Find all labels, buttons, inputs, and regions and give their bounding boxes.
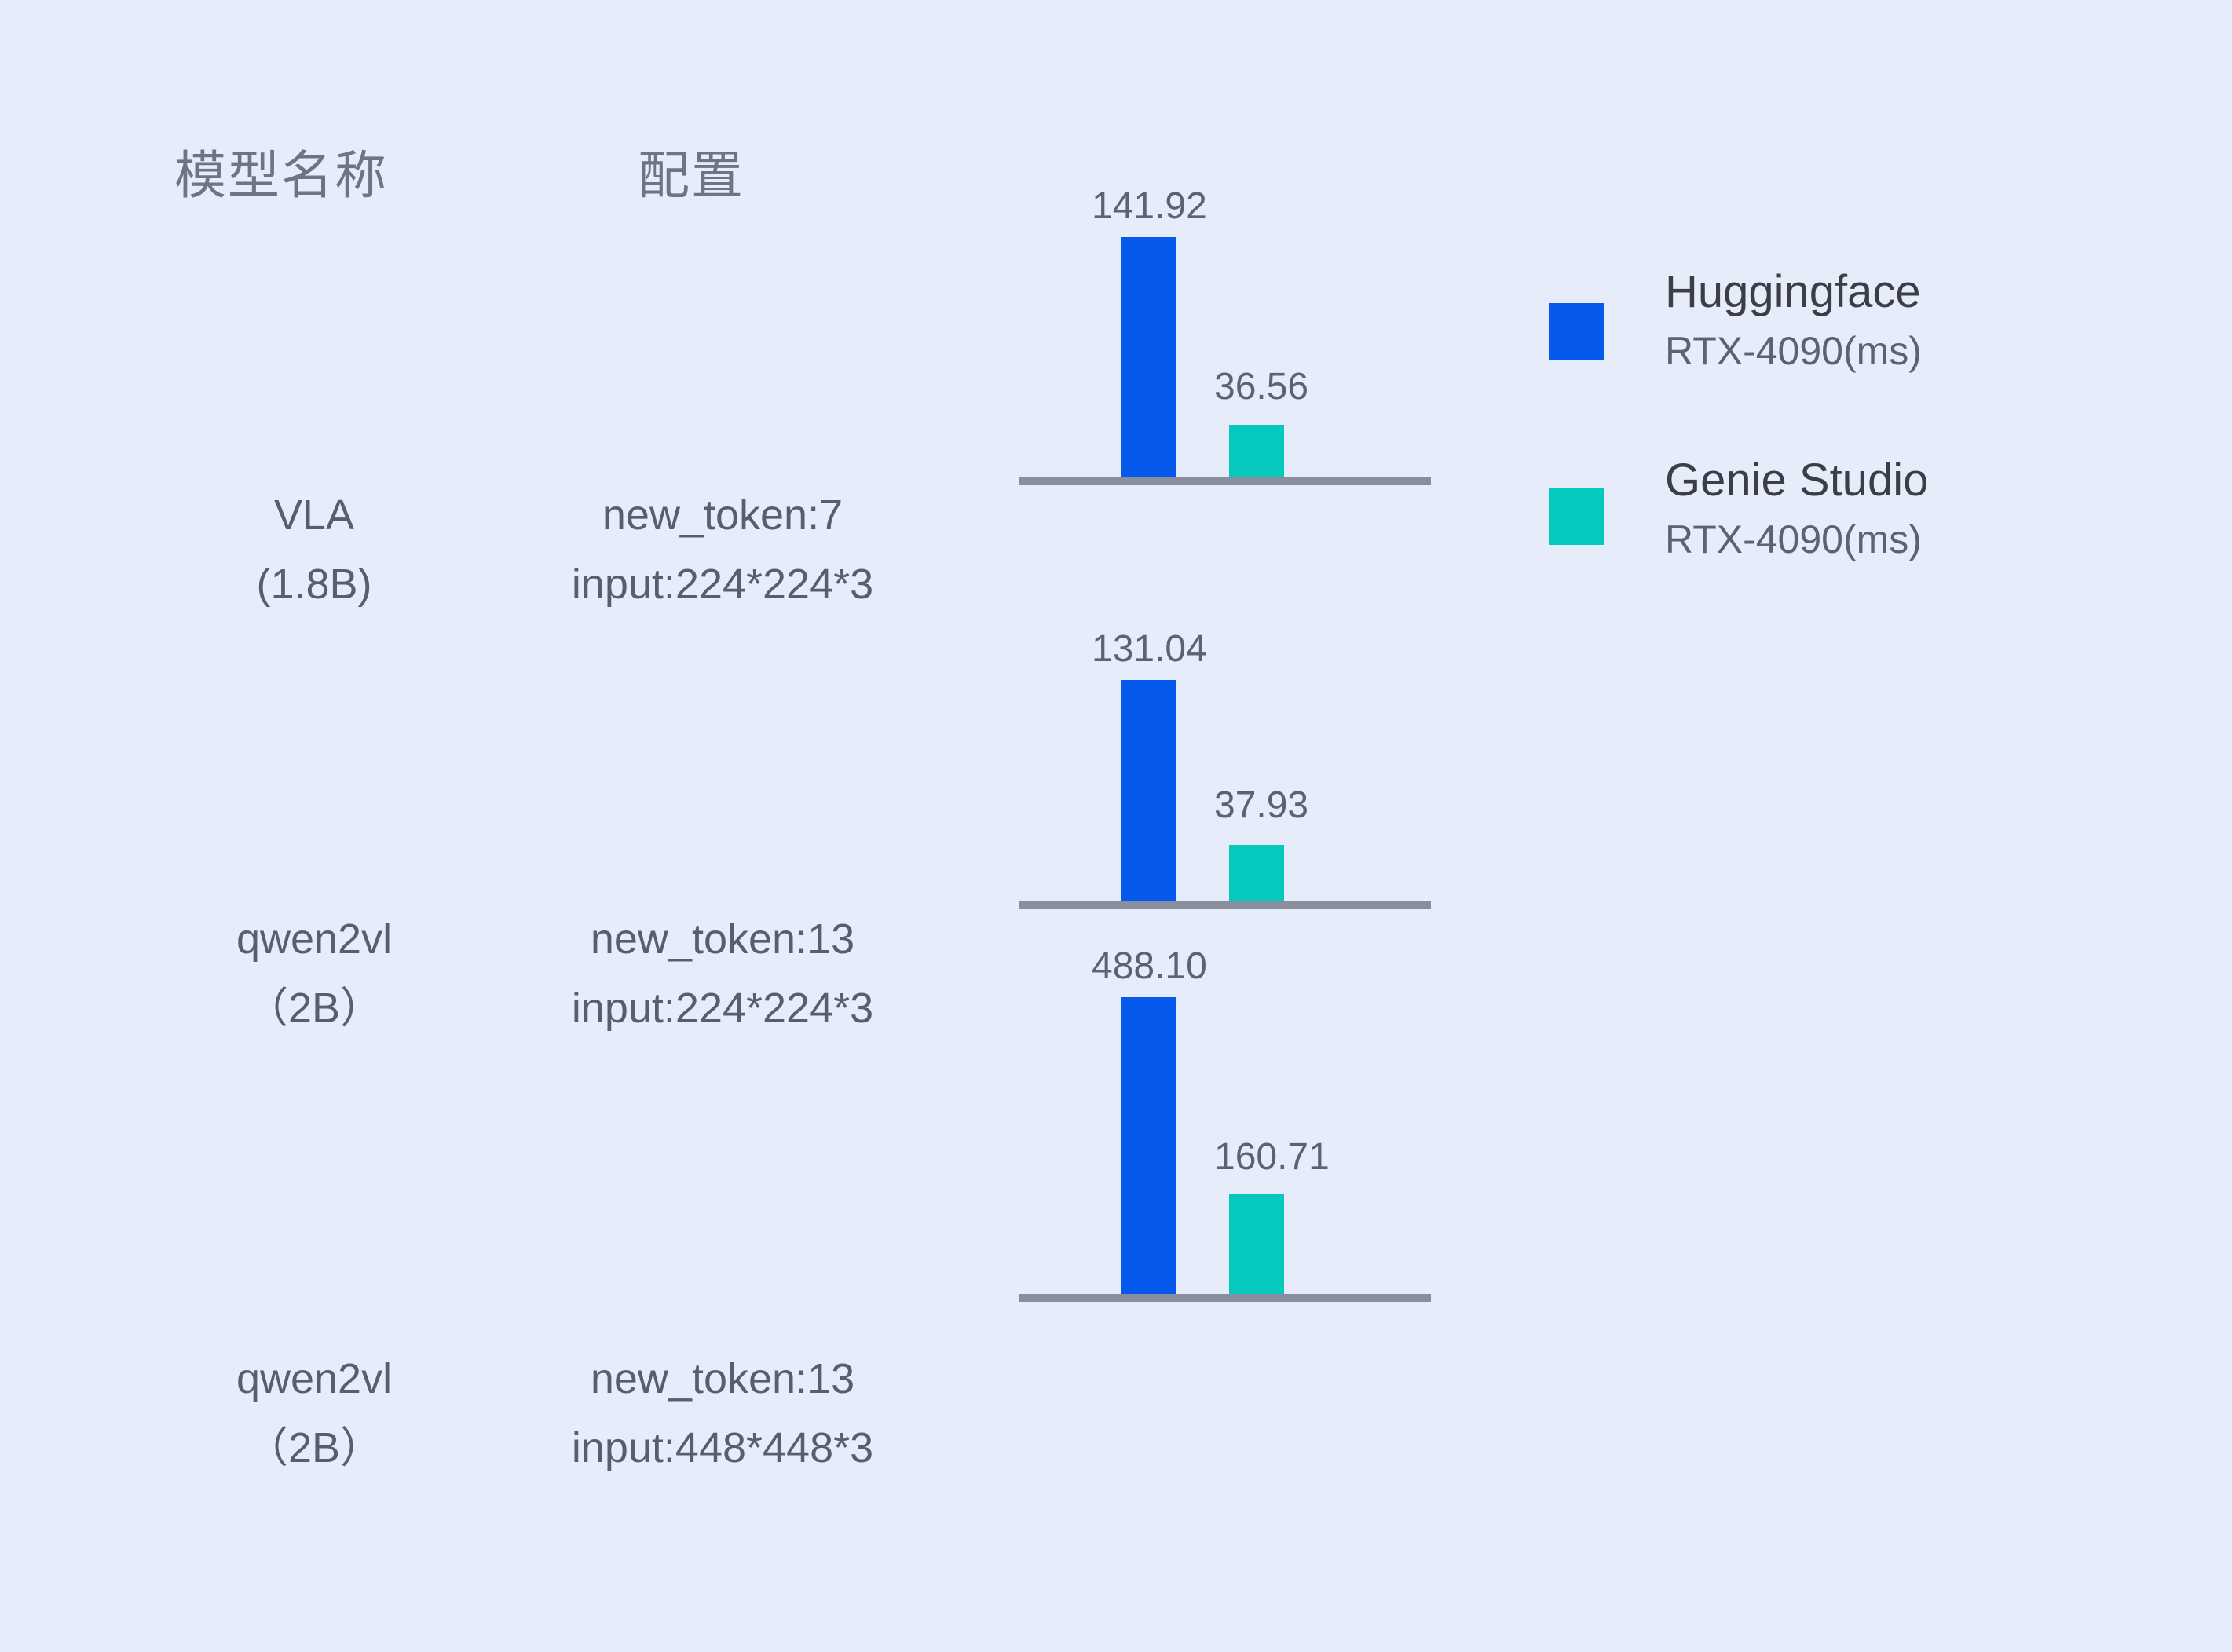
bar-value-label-genie: 37.93	[1214, 787, 1308, 824]
config-line-2: input:224*224*3	[487, 974, 958, 1043]
config-line-1: new_token:7	[487, 481, 958, 550]
config-cell: new_token:13 input:448*448*3	[487, 1344, 958, 1482]
legend-subtitle: RTX-4090(ms)	[1665, 510, 1928, 568]
bar-value-label-huggingface: 141.92	[1092, 188, 1207, 225]
model-name-line-2: （2B）	[149, 1413, 479, 1482]
config-cell: new_token:13 input:224*224*3	[487, 905, 958, 1043]
bar-value-label-genie: 36.56	[1214, 368, 1308, 406]
legend-title: Genie Studio	[1665, 451, 1928, 510]
model-name-line-2: (1.8B)	[149, 550, 479, 619]
row-baseline	[1019, 477, 1431, 485]
legend-text-huggingface: Huggingface RTX-4090(ms)	[1665, 262, 1922, 380]
bar-value-label-huggingface: 488.10	[1092, 948, 1207, 985]
bar-huggingface	[1121, 997, 1176, 1302]
bar-huggingface	[1121, 237, 1176, 478]
config-line-1: new_token:13	[487, 905, 958, 974]
model-name-cell: qwen2vl （2B）	[149, 1344, 479, 1482]
model-name-line-1: VLA	[149, 481, 479, 550]
bar-huggingface	[1121, 680, 1176, 902]
model-name-line-1: qwen2vl	[149, 905, 479, 974]
bar-value-label-genie: 160.71	[1214, 1138, 1330, 1176]
column-header-config: 配置	[638, 133, 745, 209]
config-line-2: input:224*224*3	[487, 550, 958, 619]
bar-group: 131.04 37.93	[1019, 572, 1431, 909]
config-line-2: input:448*448*3	[487, 1413, 958, 1482]
chart-legend: Huggingface RTX-4090(ms) Genie Studio RT…	[1546, 236, 2095, 612]
bar-value-label-huggingface: 131.04	[1092, 630, 1207, 668]
model-name-cell: qwen2vl （2B）	[149, 905, 479, 1043]
legend-item-genie-studio[interactable]: Genie Studio RTX-4090(ms)	[1546, 424, 2095, 612]
model-name-line-1: qwen2vl	[149, 1344, 479, 1413]
row-baseline	[1019, 901, 1431, 909]
blue-square-swatch-icon	[1549, 303, 1604, 360]
config-line-1: new_token:13	[487, 1344, 958, 1413]
column-header-model-name: 模型名称	[174, 133, 388, 209]
bar-genie-studio	[1229, 425, 1284, 478]
chart-canvas: 模型名称 配置 VLA (1.8B) new_token:7 input:224…	[0, 0, 2232, 1652]
legend-title: Huggingface	[1665, 262, 1922, 322]
legend-text-genie-studio: Genie Studio RTX-4090(ms)	[1665, 451, 1928, 568]
model-name-cell: VLA (1.8B)	[149, 481, 479, 619]
row-baseline	[1019, 1294, 1431, 1302]
legend-subtitle: RTX-4090(ms)	[1665, 322, 1922, 380]
legend-item-huggingface[interactable]: Huggingface RTX-4090(ms)	[1546, 236, 2095, 424]
model-name-line-2: （2B）	[149, 974, 479, 1043]
teal-square-swatch-icon	[1549, 488, 1604, 545]
bar-group: 488.10 160.71	[1019, 964, 1431, 1302]
config-cell: new_token:7 input:224*224*3	[487, 481, 958, 619]
bar-genie-studio	[1229, 1194, 1284, 1295]
bar-group: 141.92 36.56	[1019, 148, 1431, 485]
bar-genie-studio	[1229, 845, 1284, 902]
